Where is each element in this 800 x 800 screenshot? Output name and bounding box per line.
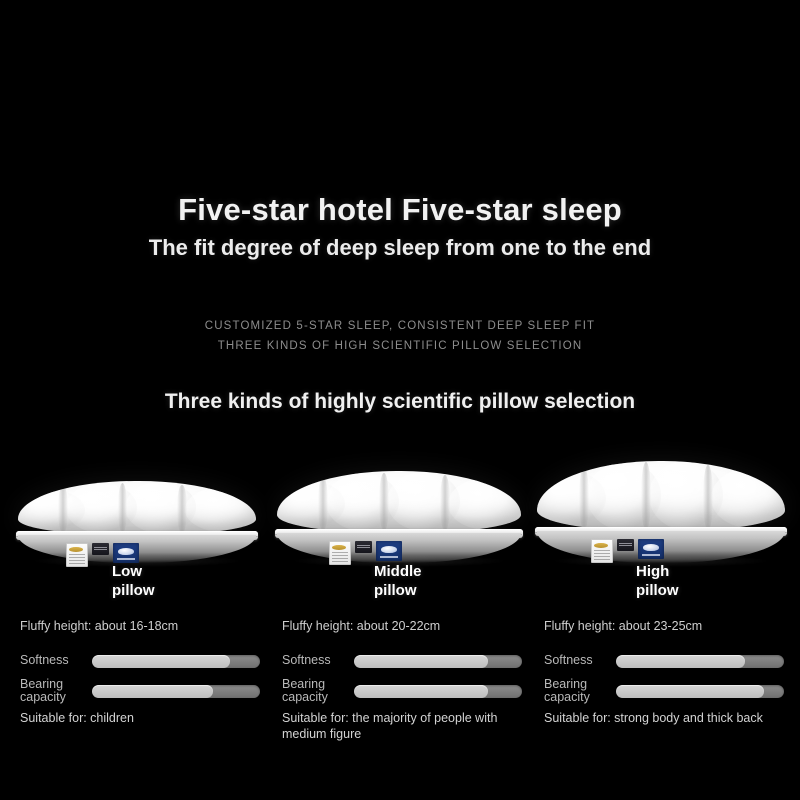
meter-label-bearing-line2: capacity — [282, 690, 328, 704]
meter-label-softness: Softness — [282, 654, 354, 668]
caption-line-1: CUSTOMIZED 5-STAR SLEEP, CONSISTENT DEEP… — [0, 316, 800, 336]
product-spec-high: High pillow Fluffy height: about 23-25cm… — [544, 563, 784, 785]
dark-tag — [617, 539, 634, 551]
meter-label-bearing: Bearing capacity — [282, 678, 354, 705]
headline-block: Five-star hotel Five-star sleep The fit … — [0, 192, 800, 261]
meter-label-bearing-line1: Bearing — [20, 677, 63, 691]
meter-fill-softness — [616, 655, 745, 668]
fluffy-height-high: Fluffy height: about 23-25cm — [544, 619, 702, 633]
product-spec-middle: Middle pillow Fluffy height: about 20-22… — [282, 563, 522, 785]
section-title: Three kinds of highly scientific pillow … — [0, 390, 800, 414]
meter-label-bearing-line2: capacity — [544, 690, 590, 704]
pillow-name-line1: Middle — [374, 563, 422, 580]
fluffy-height-low: Fluffy height: about 16-18cm — [20, 619, 178, 633]
product-column-high: High pillow Fluffy height: about 23-25cm… — [532, 455, 790, 785]
pillow-name-low: Low pillow — [112, 563, 155, 601]
suitable-for-high: Suitable for: strong body and thick back — [544, 711, 784, 727]
product-spec-low: Low pillow Fluffy height: about 16-18cm … — [20, 563, 260, 785]
brand-tag — [638, 539, 664, 559]
product-column-middle: Middle pillow Fluffy height: about 20-22… — [270, 455, 528, 785]
care-label-tag — [591, 539, 613, 563]
pillow-body — [277, 471, 521, 533]
pillow-body — [18, 481, 256, 535]
meter-row-bearing: Bearing capacity — [282, 679, 522, 703]
meter-row-bearing: Bearing capacity — [20, 679, 260, 703]
brand-tag — [376, 541, 402, 561]
meter-track-softness — [92, 655, 260, 668]
headline-sub: The fit degree of deep sleep from one to… — [0, 235, 800, 261]
meter-row-softness: Softness — [282, 649, 522, 673]
meter-label-bearing-line2: capacity — [20, 690, 66, 704]
pillow-body — [537, 461, 785, 531]
product-columns: Low pillow Fluffy height: about 16-18cm … — [0, 455, 800, 785]
meter-fill-softness — [92, 655, 230, 668]
meter-label-softness: Softness — [20, 654, 92, 668]
pillow-tags — [329, 541, 402, 565]
caption-block: CUSTOMIZED 5-STAR SLEEP, CONSISTENT DEEP… — [0, 316, 800, 356]
meter-label-bearing: Bearing capacity — [544, 678, 616, 705]
meter-fill-bearing — [354, 685, 488, 698]
dark-tag — [355, 541, 372, 553]
pillow-image-middle — [270, 455, 528, 563]
pillow-image-high — [532, 455, 790, 563]
meters-high: Softness Bearing capacity — [544, 649, 784, 709]
pillow-name-line2: pillow — [636, 582, 679, 599]
caption-line-2: THREE KINDS OF HIGH SCIENTIFIC PILLOW SE… — [0, 336, 800, 356]
meter-label-bearing: Bearing capacity — [20, 678, 92, 705]
meter-fill-bearing — [616, 685, 764, 698]
pillow-name-middle: Middle pillow — [374, 563, 422, 601]
pillow-name-line1: High — [636, 563, 669, 580]
headline-main: Five-star hotel Five-star sleep — [0, 192, 800, 228]
product-column-low: Low pillow Fluffy height: about 16-18cm … — [8, 455, 266, 785]
pillow-name-high: High pillow — [636, 563, 679, 601]
meter-track-softness — [354, 655, 522, 668]
meters-middle: Softness Bearing capacity — [282, 649, 522, 709]
meter-track-bearing — [616, 685, 784, 698]
meter-fill-softness — [354, 655, 488, 668]
fluffy-height-middle: Fluffy height: about 20-22cm — [282, 619, 440, 633]
suitable-for-low: Suitable for: children — [20, 711, 260, 727]
meter-fill-bearing — [92, 685, 213, 698]
pillow-tags — [591, 539, 664, 563]
suitable-for-middle: Suitable for: the majority of people wit… — [282, 711, 522, 742]
meter-track-bearing — [92, 685, 260, 698]
meter-row-softness: Softness — [20, 649, 260, 673]
meter-label-softness: Softness — [544, 654, 616, 668]
care-label-tag — [329, 541, 351, 565]
pillow-product-poster: Five-star hotel Five-star sleep The fit … — [0, 0, 800, 800]
pillow-name-line2: pillow — [112, 582, 155, 599]
pillow-image-low — [8, 455, 266, 563]
meter-label-bearing-line1: Bearing — [544, 677, 587, 691]
meter-track-bearing — [354, 685, 522, 698]
pillow-name-line1: Low — [112, 563, 142, 580]
brand-tag — [113, 543, 139, 563]
meter-row-bearing: Bearing capacity — [544, 679, 784, 703]
meter-row-softness: Softness — [544, 649, 784, 673]
dark-tag — [92, 543, 109, 555]
meters-low: Softness Bearing capacity — [20, 649, 260, 709]
pillow-name-line2: pillow — [374, 582, 417, 599]
meter-track-softness — [616, 655, 784, 668]
meter-label-bearing-line1: Bearing — [282, 677, 325, 691]
